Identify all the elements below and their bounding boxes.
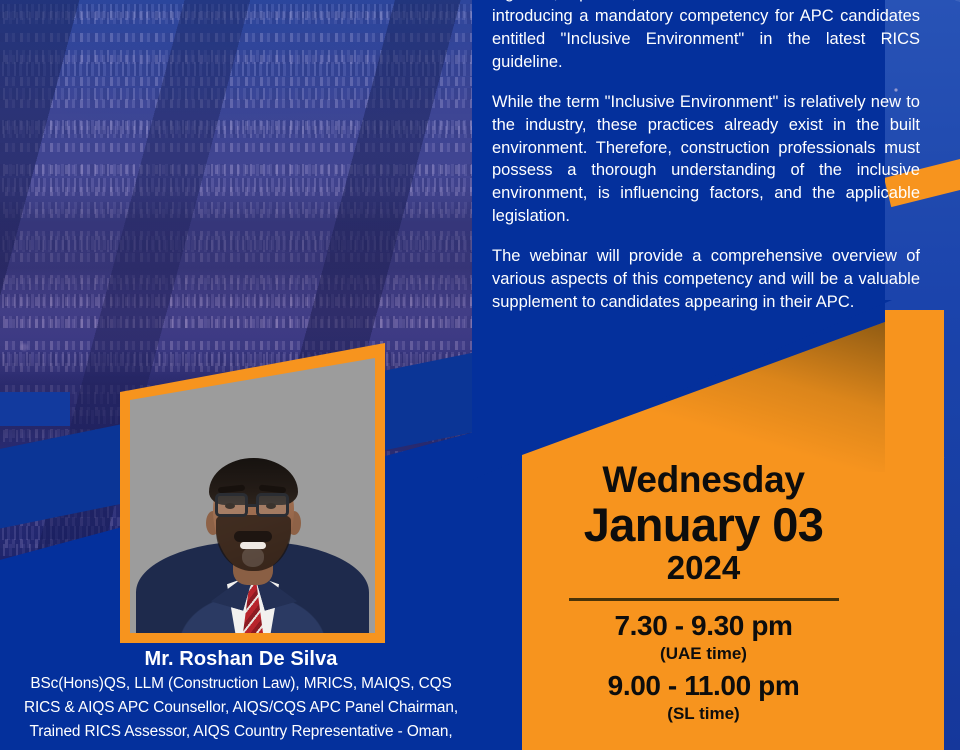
event-time-sl: 9.00 - 11.00 pm (538, 671, 869, 702)
headshot-mouth (240, 542, 266, 549)
speaker-caption: Mr. Roshan De Silva BSc(Hons)QS, LLM (Co… (0, 648, 482, 743)
speaker-credentials-line-1: BSc(Hons)QS, LLM (Construction Law), MRI… (0, 673, 482, 695)
event-time-uae: 7.30 - 9.30 pm (538, 611, 869, 642)
body-copy: dignified, equitable, and intuitive mann… (492, 0, 920, 331)
speaker-credentials-line-3: Trained RICS Assessor, AIQS Country Repr… (0, 721, 482, 743)
event-weekday: Wednesday (538, 461, 869, 500)
headshot-moustache (234, 531, 272, 542)
event-timezone-sl: (SL time) (538, 703, 869, 724)
body-paragraph-1: dignified, equitable, and intuitive mann… (492, 0, 920, 74)
headshot-chin-highlight (242, 547, 264, 567)
date-time-content: Wednesday January 03 2024 7.30 - 9.30 pm… (522, 455, 885, 750)
event-timezone-uae: (UAE time) (538, 643, 869, 664)
body-paragraph-2: While the term "Inclusive Environment" i… (492, 91, 920, 229)
event-month-day: January 03 (538, 501, 869, 550)
blue-notch-block (0, 392, 70, 426)
event-year: 2024 (538, 551, 869, 586)
speaker-credentials-line-2: RICS & AIQS APC Counsellor, AIQS/CQS APC… (0, 697, 482, 719)
headshot-glasses-lens-left (215, 493, 248, 517)
body-paragraph-3: The webinar will provide a comprehensive… (492, 245, 920, 314)
webinar-flyer: dignified, equitable, and intuitive mann… (0, 0, 960, 750)
date-divider (569, 598, 839, 601)
headshot-glasses-lens-right (256, 493, 289, 517)
speaker-headshot (130, 358, 375, 633)
speaker-name: Mr. Roshan De Silva (0, 648, 482, 671)
headshot-glasses-bridge (247, 504, 258, 507)
orange-vertical-bar (884, 310, 944, 750)
